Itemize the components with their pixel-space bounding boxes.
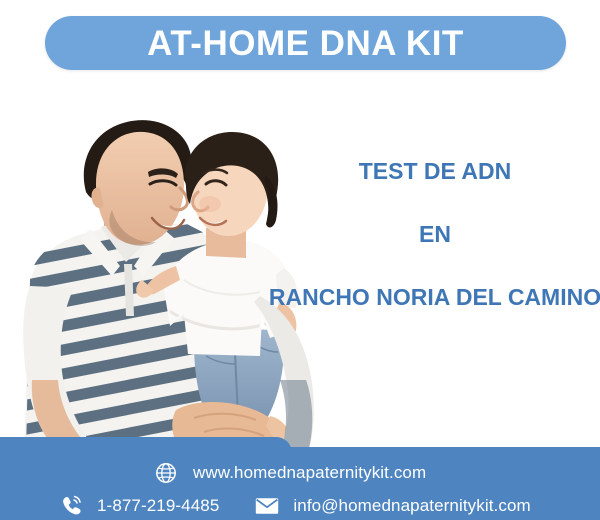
phone-number-text[interactable]: 1-877-219-4485 xyxy=(97,496,219,516)
envelope-icon xyxy=(255,497,279,515)
father-and-child-photo xyxy=(8,80,328,452)
phone-icon xyxy=(60,494,83,517)
phone-contact[interactable]: 1-877-219-4485 xyxy=(60,494,219,517)
globe-icon xyxy=(155,462,177,484)
footer-website-row[interactable]: www.homednapaternitykit.com xyxy=(155,462,426,484)
header-banner: AT-HOME DNA KIT xyxy=(45,16,566,70)
email-contact[interactable]: info@homednapaternitykit.com xyxy=(255,496,530,516)
footer-bar: www.homednapaternitykit.com 1-877-219-44… xyxy=(0,437,600,520)
website-url-text[interactable]: www.homednapaternitykit.com xyxy=(193,463,426,483)
footer-content: www.homednapaternitykit.com 1-877-219-44… xyxy=(0,437,600,520)
footer-contact-row: 1-877-219-4485 info@homednapaternitykit.… xyxy=(60,494,531,517)
page-title: AT-HOME DNA KIT xyxy=(147,26,464,61)
dna-test-promo-card: AT-HOME DNA KIT xyxy=(0,0,600,520)
email-address-text[interactable]: info@homednapaternitykit.com xyxy=(293,496,530,516)
